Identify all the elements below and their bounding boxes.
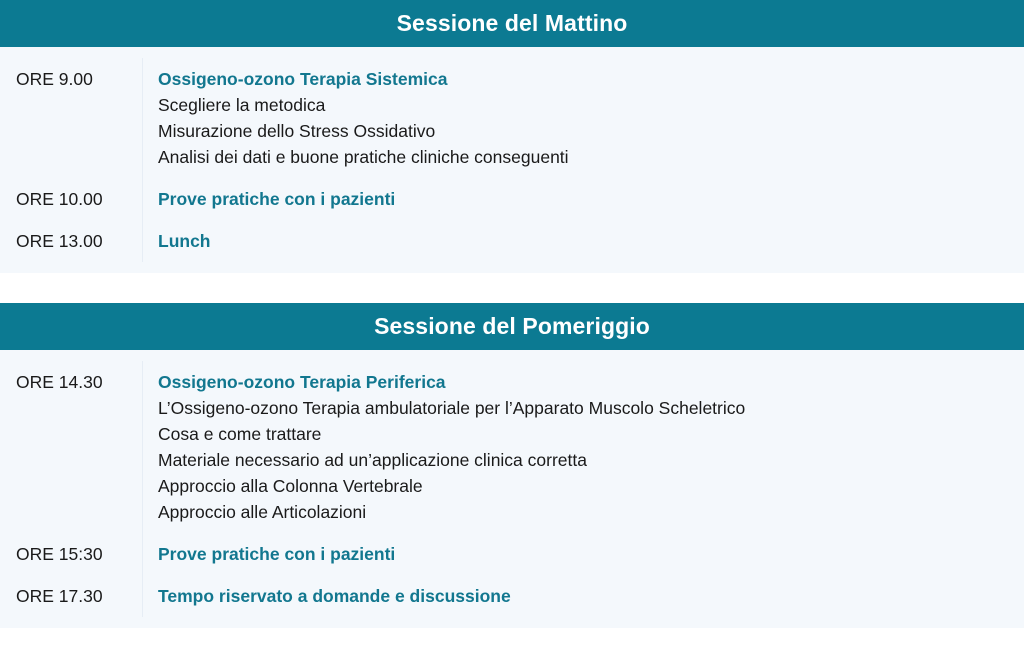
row-content: Tempo riservato a domande e discussione — [143, 575, 1024, 617]
session-divider-gap — [0, 273, 1024, 303]
row-time: ORE 14.30 — [0, 361, 143, 533]
table-row: ORE 14.30 Ossigeno-ozono Terapia Perifer… — [0, 361, 1024, 533]
row-content: Ossigeno-ozono Terapia Sistemica Sceglie… — [143, 58, 1024, 178]
row-content: Lunch — [143, 220, 1024, 262]
row-title: Prove pratiche con i pazienti — [158, 541, 1004, 567]
row-detail: Cosa e come trattare — [158, 421, 1004, 447]
row-content: Prove pratiche con i pazienti — [143, 178, 1024, 220]
row-title: Tempo riservato a domande e discussione — [158, 583, 1004, 609]
session-afternoon: Sessione del Pomeriggio ORE 14.30 Ossige… — [0, 303, 1024, 628]
schedule-page: Sessione del Mattino ORE 9.00 Ossigeno-o… — [0, 0, 1024, 656]
row-time: ORE 9.00 — [0, 58, 143, 178]
row-detail: L’Ossigeno-ozono Terapia ambulatoriale p… — [158, 395, 1004, 421]
row-title: Lunch — [158, 228, 1004, 254]
row-title: Ossigeno-ozono Terapia Periferica — [158, 369, 1004, 395]
row-time: ORE 10.00 — [0, 178, 143, 220]
row-detail: Misurazione dello Stress Ossidativo — [158, 118, 1004, 144]
row-detail: Analisi dei dati e buone pratiche clinic… — [158, 144, 1004, 170]
table-row: ORE 15:30 Prove pratiche con i pazienti — [0, 533, 1024, 575]
row-title: Prove pratiche con i pazienti — [158, 186, 1004, 212]
table-row: ORE 17.30 Tempo riservato a domande e di… — [0, 575, 1024, 617]
session-morning-body: ORE 9.00 Ossigeno-ozono Terapia Sistemic… — [0, 47, 1024, 273]
row-time: ORE 15:30 — [0, 533, 143, 575]
row-time: ORE 13.00 — [0, 220, 143, 262]
session-morning: Sessione del Mattino ORE 9.00 Ossigeno-o… — [0, 0, 1024, 273]
row-title: Ossigeno-ozono Terapia Sistemica — [158, 66, 1004, 92]
row-detail: Approccio alla Colonna Vertebrale — [158, 473, 1004, 499]
row-time: ORE 17.30 — [0, 575, 143, 617]
table-row: ORE 10.00 Prove pratiche con i pazienti — [0, 178, 1024, 220]
table-row: ORE 9.00 Ossigeno-ozono Terapia Sistemic… — [0, 58, 1024, 178]
row-detail: Approccio alle Articolazioni — [158, 499, 1004, 525]
row-content: Ossigeno-ozono Terapia Periferica L’Ossi… — [143, 361, 1024, 533]
table-row: ORE 13.00 Lunch — [0, 220, 1024, 262]
session-afternoon-body: ORE 14.30 Ossigeno-ozono Terapia Perifer… — [0, 350, 1024, 628]
row-detail: Materiale necessario ad un’applicazione … — [158, 447, 1004, 473]
session-morning-header: Sessione del Mattino — [0, 0, 1024, 47]
session-afternoon-header: Sessione del Pomeriggio — [0, 303, 1024, 350]
row-content: Prove pratiche con i pazienti — [143, 533, 1024, 575]
row-detail: Scegliere la metodica — [158, 92, 1004, 118]
